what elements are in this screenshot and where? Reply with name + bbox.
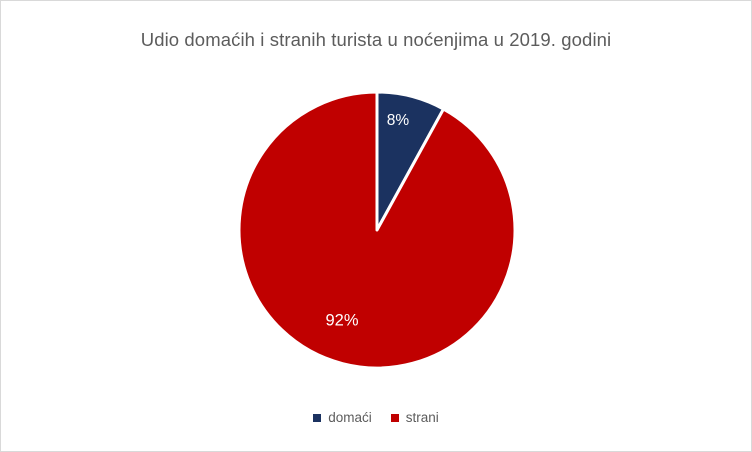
pie-plot-area: 8% 92% (1, 1, 751, 451)
legend-item-strani[interactable]: strani (391, 409, 439, 427)
legend-label-domaci: domaći (328, 409, 372, 427)
legend-item-domaci[interactable]: domaći (313, 409, 372, 427)
chart-canvas: Udio domaćih i stranih turista u noćenji… (0, 0, 752, 452)
pie-slice-strani[interactable] (239, 92, 515, 368)
legend-swatch-icon-strani (391, 414, 399, 422)
legend-swatch-icon-domaci (313, 414, 321, 422)
chart-legend: domaći strani (1, 409, 751, 427)
legend-label-strani: strani (406, 409, 439, 427)
pie-chart-svg (1, 1, 751, 451)
